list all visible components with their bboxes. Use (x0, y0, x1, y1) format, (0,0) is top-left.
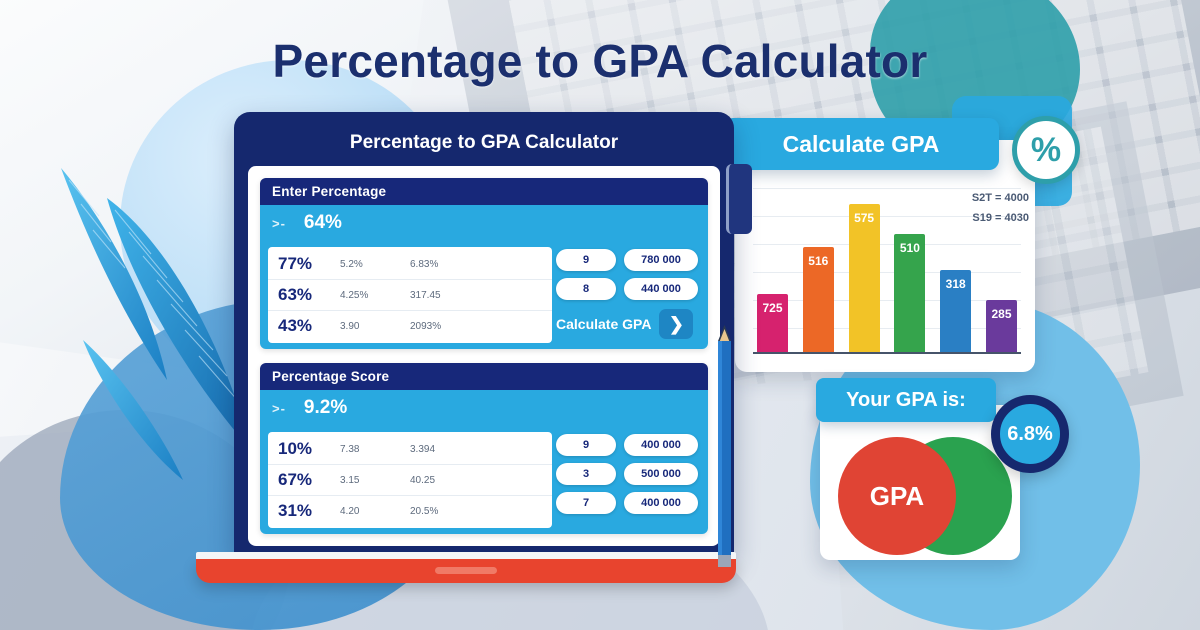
pill-grade[interactable]: 9 (556, 249, 616, 271)
laptop-screen: Percentage to GPA Calculator Enter Perce… (234, 112, 734, 556)
pill-row: 9 780 000 (556, 249, 698, 271)
panel-header-percentage-score: Percentage Score (260, 363, 708, 390)
pill-row: 7 400 000 (556, 492, 698, 514)
pill-grade[interactable]: 8 (556, 278, 616, 300)
panel-percentage-score: Percentage Score >- 9.2% 10% 7.38 3.394 … (260, 363, 708, 534)
row-percentage: 31% (278, 501, 340, 521)
laptop-hinge (726, 164, 752, 234)
table-row[interactable]: 63% 4.25% 317.45 (268, 280, 552, 311)
row-percentage: 77% (278, 254, 340, 274)
chart-card: 725 516 575 510 318 285 S2T = 4000 S19 =… (735, 140, 1035, 372)
chart-annotation: S2T = 4000 (972, 192, 1029, 204)
venn-circle-red: GPA (838, 437, 956, 555)
panel-enter-percentage: Enter Percentage >- 64% 77% 5.2% 6.83% 6… (260, 178, 708, 349)
table-row[interactable]: 31% 4.20 20.5% (268, 496, 552, 526)
panel-header-enter-percentage: Enter Percentage (260, 178, 708, 205)
pencil-icon (716, 325, 733, 570)
chart-bar[interactable]: 516 (803, 247, 834, 352)
row-value-2: 317.45 (410, 290, 480, 301)
panel-body-percentage-score: 10% 7.38 3.394 67% 3.15 40.25 31% 4.20 (260, 426, 708, 534)
row-value-1: 3.90 (340, 321, 410, 332)
pill-amount[interactable]: 440 000 (624, 278, 698, 300)
pill-grade[interactable]: 7 (556, 492, 616, 514)
row-percentage: 43% (278, 316, 340, 336)
page-title: Percentage to GPA Calculator (0, 34, 1200, 88)
prompt-icon: >- (272, 401, 286, 416)
row-value-1: 7.38 (340, 444, 410, 455)
chart-axis (753, 352, 1021, 354)
pill-row: 9 400 000 (556, 434, 698, 456)
chart-bar[interactable]: 285 (986, 300, 1017, 352)
score-input-row[interactable]: >- 9.2% (260, 390, 708, 426)
chart-bar[interactable]: 510 (894, 234, 925, 352)
row-value-1: 4.25% (340, 290, 410, 301)
table-row[interactable]: 43% 3.90 2093% (268, 311, 552, 341)
row-value-1: 4.20 (340, 506, 410, 517)
app-content: Enter Percentage >- 64% 77% 5.2% 6.83% 6… (248, 166, 720, 546)
venn-diagram: GPA (828, 429, 1018, 549)
table-row[interactable]: 67% 3.15 40.25 (268, 465, 552, 496)
results-table-1: 77% 5.2% 6.83% 63% 4.25% 317.45 43% 3.90 (268, 247, 552, 343)
row-percentage: 67% (278, 470, 340, 490)
row-value-2: 3.394 (410, 444, 480, 455)
laptop-mockup: Percentage to GPA Calculator Enter Perce… (196, 112, 736, 583)
percent-icon: % (1012, 116, 1080, 184)
table-row[interactable]: 77% 5.2% 6.83% (268, 249, 552, 280)
pill-amount[interactable]: 400 000 (624, 434, 698, 456)
panel-body-enter-percentage: 77% 5.2% 6.83% 63% 4.25% 317.45 43% 3.90 (260, 241, 708, 349)
gpa-result-card: GPA (820, 405, 1020, 560)
gpa-value-badge: 6.8% (991, 395, 1069, 473)
row-value-2: 20.5% (410, 506, 480, 517)
calculate-gpa-label: Calculate GPA (556, 316, 651, 332)
row-percentage: 10% (278, 439, 340, 459)
pill-amount[interactable]: 500 000 (624, 463, 698, 485)
row-value-2: 40.25 (410, 475, 480, 486)
percentage-input-row[interactable]: >- 64% (260, 205, 708, 241)
score-input-value: 9.2% (304, 397, 347, 419)
pill-amount[interactable]: 780 000 (624, 249, 698, 271)
results-table-2: 10% 7.38 3.394 67% 3.15 40.25 31% 4.20 (268, 432, 552, 528)
app-window-title: Percentage to GPA Calculator (248, 126, 720, 166)
chart-bar[interactable]: 318 (940, 270, 971, 352)
percentage-input-value: 64% (304, 212, 342, 234)
calculate-gpa-action[interactable]: Calculate GPA ❯ (556, 309, 698, 339)
chart-annotation: S19 = 4030 (972, 212, 1029, 224)
row-value-1: 5.2% (340, 259, 410, 270)
pill-row: 8 440 000 (556, 278, 698, 300)
pill-grade[interactable]: 3 (556, 463, 616, 485)
chart-annotations: S2T = 4000 S19 = 4030 (972, 192, 1029, 224)
pill-amount[interactable]: 400 000 (624, 492, 698, 514)
gpa-result-banner: Your GPA is: (816, 378, 996, 422)
prompt-icon: >- (272, 216, 286, 231)
row-value-1: 3.15 (340, 475, 410, 486)
pill-group-1: 9 780 000 8 440 000 Calculate GPA ❯ (552, 241, 708, 349)
row-value-2: 2093% (410, 321, 480, 332)
row-value-2: 6.83% (410, 259, 480, 270)
table-row[interactable]: 10% 7.38 3.394 (268, 434, 552, 465)
chart-bar[interactable]: 725 (757, 294, 788, 352)
pill-row: 3 500 000 (556, 463, 698, 485)
calculate-gpa-banner[interactable]: Calculate GPA (723, 118, 999, 170)
row-percentage: 63% (278, 285, 340, 305)
laptop-base (196, 559, 736, 583)
laptop-trackpad-notch (435, 567, 497, 574)
pill-grade[interactable]: 9 (556, 434, 616, 456)
pill-group-2: 9 400 000 3 500 000 7 400 000 (552, 426, 708, 534)
chart-bar[interactable]: 575 (849, 204, 880, 352)
chevron-right-icon[interactable]: ❯ (659, 309, 693, 339)
